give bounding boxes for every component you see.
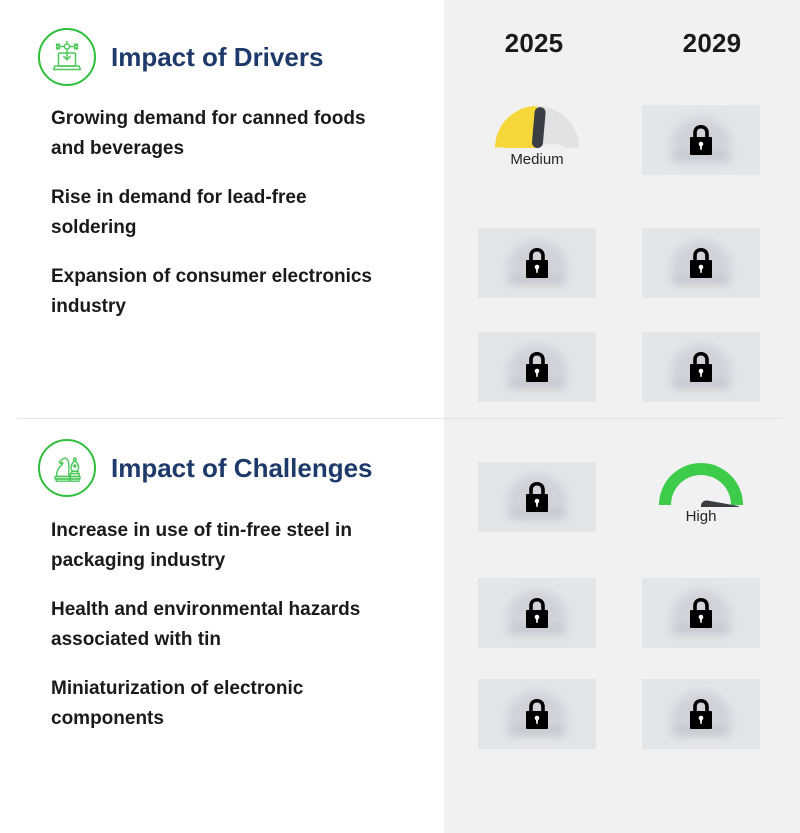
locked-cell-drivers-1-2025[interactable] [478,228,596,298]
padlock-icon [685,245,717,281]
locked-cell-drivers-0-2029[interactable] [642,105,760,175]
locked-cell-challenges-0-2025[interactable] [478,462,596,532]
locked-cell-drivers-2-2029[interactable] [642,332,760,402]
section-challenges-header: Impact of Challenges [0,434,444,502]
impact-matrix-page: 2025 2029 [0,0,800,833]
list-item: Increase in use of tin-free steel in pac… [0,516,411,576]
section-challenges: Impact of Challenges Increase in use of … [0,419,444,753]
challenges-list: Increase in use of tin-free steel in pac… [0,516,444,734]
padlock-icon [685,122,717,158]
padlock-icon [685,349,717,385]
locked-cell-challenges-1-2029[interactable] [642,578,760,648]
padlock-icon [521,349,553,385]
challenges-chess-pieces-icon [38,439,96,497]
impact-gauge-challenges-0-2029[interactable]: High [642,462,760,532]
list-item: Growing demand for canned foods and beve… [0,104,411,164]
list-item: Miniaturization of electronic components [0,674,411,734]
padlock-icon [521,245,553,281]
impact-gauge-drivers-0-2025[interactable]: Medium [478,105,596,175]
column-header-2025: 2025 [444,28,624,66]
section-drivers-header: Impact of Drivers [0,23,444,91]
impact-gauge-label: Medium [510,151,563,168]
list-item: Rise in demand for lead-free soldering [0,183,411,243]
impact-gauge-label: High [686,508,717,525]
padlock-icon [685,696,717,732]
locked-cell-challenges-1-2025[interactable] [478,578,596,648]
locked-cell-drivers-1-2029[interactable] [642,228,760,298]
drivers-laptop-gear-icon [38,28,96,86]
padlock-icon [521,479,553,515]
column-header-2029: 2029 [624,28,800,66]
list-item: Health and environmental hazards associa… [0,595,411,655]
section-drivers-title: Impact of Drivers [111,42,323,73]
locked-cell-challenges-2-2029[interactable] [642,679,760,749]
section-drivers: Impact of Drivers Growing demand for can… [0,0,444,341]
padlock-icon [685,595,717,631]
padlock-icon [521,595,553,631]
locked-cell-drivers-2-2025[interactable] [478,332,596,402]
padlock-icon [521,696,553,732]
drivers-list: Growing demand for canned foods and beve… [0,104,444,322]
section-challenges-title: Impact of Challenges [111,453,373,484]
list-item: Expansion of consumer electronics indust… [0,262,411,322]
locked-cell-challenges-2-2025[interactable] [478,679,596,749]
